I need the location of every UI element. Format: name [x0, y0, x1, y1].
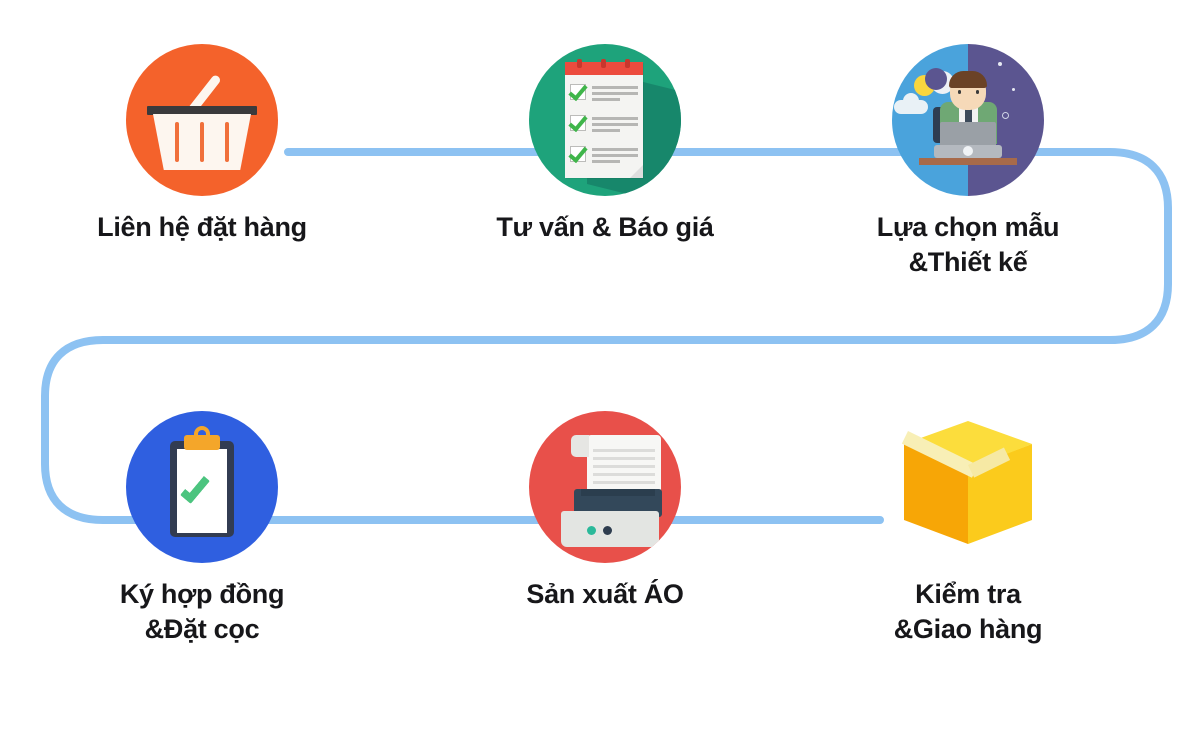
- day-night-designer-icon: [892, 44, 1044, 196]
- step-1-lien-he-dat-hang[interactable]: Liên hệ đặt hàng: [52, 44, 352, 245]
- printer-status-led-green: [587, 526, 596, 535]
- checklist-check-2: [570, 115, 586, 131]
- basket-rim-shape: [147, 106, 257, 115]
- laptop-logo-dot: [963, 146, 973, 156]
- step-5-san-xuat-ao[interactable]: Sản xuất ÁO: [455, 411, 755, 612]
- star-icon: [1002, 112, 1009, 119]
- step-4-label: Ký hợp đồng &Đặt cọc: [52, 577, 352, 646]
- step-6-label: Kiểm tra &Giao hàng: [818, 577, 1118, 646]
- desk-shape: [919, 158, 1017, 165]
- step-2-label: Tư vấn & Báo giá: [455, 210, 755, 245]
- printer-status-led-dark: [603, 526, 612, 535]
- star-icon: [998, 62, 1002, 66]
- step-6-label-line2: &Giao hàng: [818, 612, 1118, 647]
- person-hair-shape: [949, 71, 987, 88]
- step-3-label-line2: &Thiết kế: [818, 245, 1118, 280]
- clipboard-clip-shape: [184, 435, 220, 450]
- step-2-label-line1: Tư vấn & Báo giá: [496, 212, 713, 242]
- step-2-tu-van-bao-gia[interactable]: Tư vấn & Báo giá: [455, 44, 755, 245]
- step-6-label-line1: Kiểm tra: [915, 579, 1021, 609]
- checklist-clipboard-icon: [529, 44, 681, 196]
- laptop-screen-shape: [940, 122, 996, 147]
- step-4-label-line1: Ký hợp đồng: [120, 579, 284, 609]
- checklist-page-corner: [630, 165, 643, 178]
- contract-clipboard-check-icon: [126, 411, 278, 563]
- step-3-label: Lựa chọn mẫu &Thiết kế: [818, 210, 1118, 279]
- step-6-kiem-tra-giao-hang[interactable]: Kiểm tra &Giao hàng: [818, 411, 1118, 646]
- step-4-label-line2: &Đặt cọc: [52, 612, 352, 647]
- process-flow-diagram: Liên hệ đặt hàng: [0, 0, 1200, 733]
- step-5-label: Sản xuất ÁO: [455, 577, 755, 612]
- checklist-check-1: [570, 84, 586, 100]
- step-3-lua-chon-mau-thiet-ke[interactable]: Lựa chọn mẫu &Thiết kế: [818, 44, 1118, 279]
- star-icon: [1012, 88, 1015, 91]
- printer-slot-inner: [581, 489, 655, 496]
- checklist-check-3: [570, 146, 586, 162]
- step-4-ky-hop-dong-dat-coc[interactable]: Ký hợp đồng &Đặt cọc: [52, 411, 352, 646]
- printer-paper-shape: [587, 435, 661, 497]
- step-5-label-line1: Sản xuất ÁO: [526, 579, 683, 609]
- printer-icon: [529, 411, 681, 563]
- shipping-box-icon: [892, 411, 1044, 563]
- basket-body-shape: [153, 114, 251, 170]
- shopping-basket-icon: [126, 44, 278, 196]
- step-3-label-line1: Lựa chọn mẫu: [877, 212, 1059, 242]
- printer-paper-curl: [571, 435, 589, 457]
- cloud-icon: [894, 100, 928, 114]
- step-1-label-line1: Liên hệ đặt hàng: [97, 212, 307, 242]
- step-1-label: Liên hệ đặt hàng: [52, 210, 352, 245]
- checklist-page-shape: [565, 62, 643, 178]
